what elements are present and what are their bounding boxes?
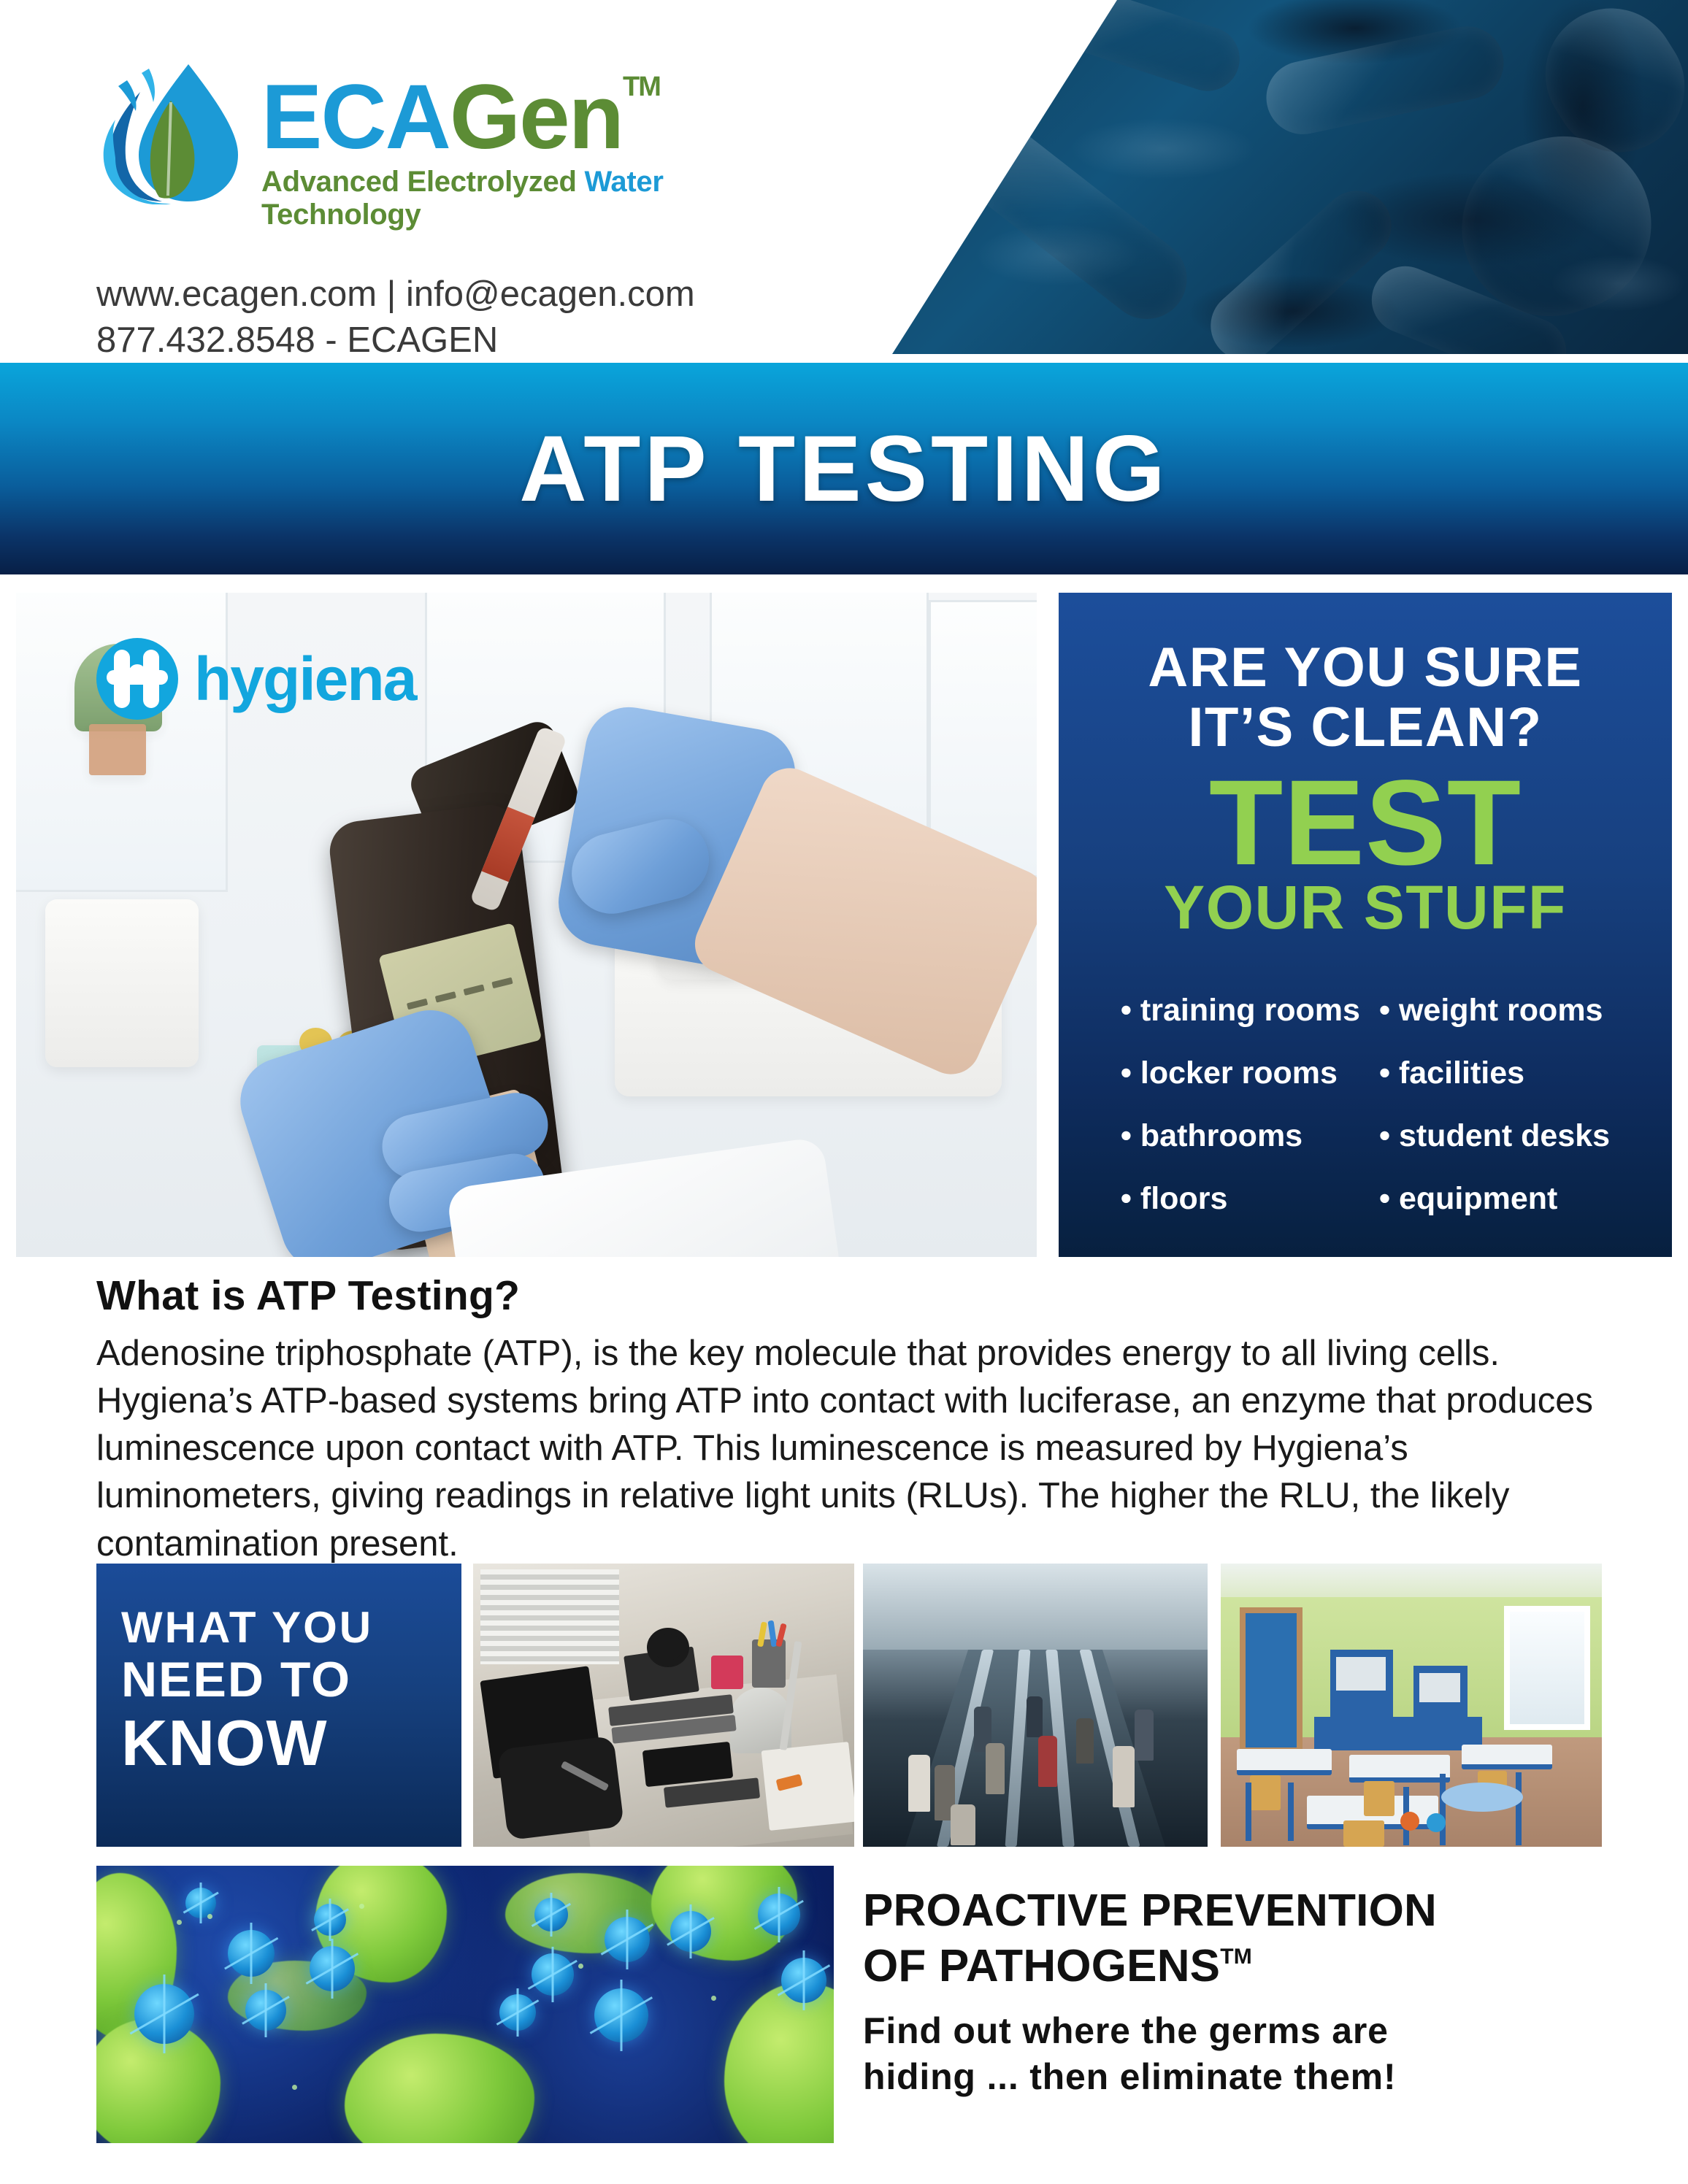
promo-test-word: TEST	[1083, 768, 1647, 880]
closing-heading-line1: PROACTIVE PREVENTION	[863, 1883, 1637, 1939]
logo-tagline-part1: Advanced Electrolyzed	[261, 166, 584, 198]
hygiena-logo: hygiena	[96, 638, 415, 720]
list-item: locker rooms	[1121, 1042, 1360, 1104]
page-header: PROACTIVE PREVENTION OF PATHOGENSTM ECAG…	[0, 0, 1688, 365]
wyntk-line1: WHAT YOU	[121, 1603, 461, 1652]
luminometer-hero-photo: hygiena ⏻ ✱ ▲ OK ▼ P i	[16, 593, 1037, 1257]
contact-info: www.ecagen.com | info@ecagen.com 877.432…	[96, 272, 695, 363]
list-item: weight rooms	[1379, 979, 1610, 1042]
logo-tagline-part2: Water	[584, 166, 663, 198]
list-item: student desks	[1379, 1104, 1610, 1167]
promo-your-stuff: YOUR STUFF	[1083, 877, 1647, 938]
microbes-bacteria-virus-photo	[96, 1866, 834, 2143]
closing-heading: PROACTIVE PREVENTION OF PATHOGENSTM	[863, 1883, 1637, 1993]
classroom-photo	[1221, 1564, 1602, 1847]
hygiena-circle-icon	[96, 638, 178, 720]
wyntk-line2: NEED TO	[121, 1652, 461, 1707]
contact-phone[interactable]: 877.432.8548 - ECAGEN	[96, 318, 695, 364]
ecagen-logo[interactable]: ECAGenTM Advanced Electrolyzed Water Tec…	[95, 58, 752, 212]
cluttered-office-desk-photo	[473, 1564, 854, 1847]
article-heading: What is ATP Testing?	[96, 1272, 1600, 1320]
list-item: training rooms	[1121, 979, 1360, 1042]
closing-body-line1: Find out where the germs are	[863, 2008, 1637, 2054]
what-you-need-to-know-box: WHAT YOU NEED TO KNOW	[96, 1564, 461, 1847]
closing-section: PROACTIVE PREVENTION OF PATHOGENSTM Find…	[863, 1883, 1637, 2100]
ecagen-wordmark: ECAGenTM Advanced Electrolyzed Water Tec…	[261, 72, 752, 231]
promo-column-left: training rooms locker rooms bathrooms fl…	[1121, 979, 1360, 1230]
logo-eca-text: ECA	[261, 66, 450, 168]
list-item: bathrooms	[1121, 1104, 1360, 1167]
closing-body-line2: hiding ... then eliminate them!	[863, 2054, 1637, 2100]
promo-line2: IT’S CLEAN?	[1083, 698, 1647, 758]
closing-heading-line2: OF PATHOGENSTM	[863, 1939, 1637, 1994]
contact-web-email[interactable]: www.ecagen.com | info@ecagen.com	[96, 272, 695, 318]
trademark-symbol: TM	[1220, 1945, 1252, 1969]
test-your-stuff-panel: ARE YOU SURE IT’S CLEAN? TEST YOUR STUFF…	[1059, 593, 1672, 1257]
logo-trademark: TM	[623, 72, 660, 102]
list-item: facilities	[1379, 1042, 1610, 1104]
promo-bullet-columns: training rooms locker rooms bathrooms fl…	[1083, 979, 1647, 1230]
logo-gen-text: Gen	[450, 66, 623, 168]
closing-body: Find out where the germs are hiding ... …	[863, 2008, 1637, 2100]
list-item: floors	[1121, 1167, 1360, 1230]
atp-testing-banner: ATP TESTING	[0, 363, 1688, 574]
promo-headline: ARE YOU SURE IT’S CLEAN?	[1083, 638, 1647, 758]
water-drop-leaf-icon	[95, 58, 245, 204]
promo-line1: ARE YOU SURE	[1083, 638, 1647, 698]
wyntk-line3: KNOW	[121, 1707, 461, 1780]
hygiena-wordmark: hygiena	[194, 648, 415, 710]
escalator-crowd-photo	[863, 1564, 1208, 1847]
article-section: What is ATP Testing? Adenosine triphosph…	[96, 1272, 1600, 1568]
logo-tagline-part3: Technology	[261, 199, 421, 231]
list-item: equipment	[1379, 1167, 1610, 1230]
page-title: ATP TESTING	[519, 415, 1168, 523]
article-paragraph: Adenosine triphosphate (ATP), is the key…	[96, 1330, 1600, 1568]
promo-column-right: weight rooms facilities student desks eq…	[1379, 979, 1610, 1230]
logo-tagline: Advanced Electrolyzed Water Technology	[261, 166, 752, 231]
bacteria-texture-panel: PROACTIVE PREVENTION OF PATHOGENSTM	[812, 0, 1688, 354]
